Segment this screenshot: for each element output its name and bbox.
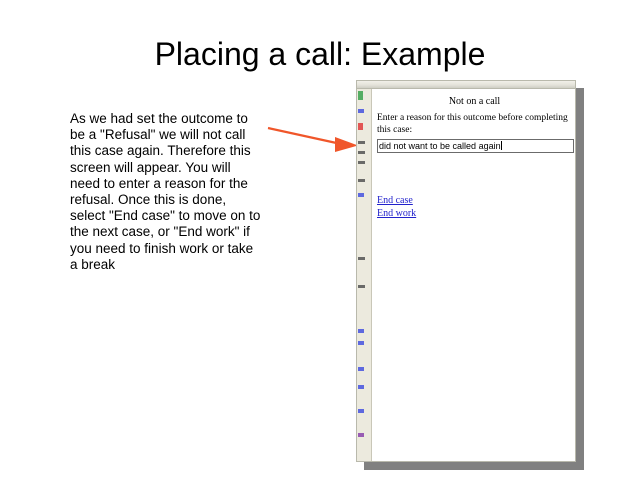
strip-fragment-blue-3 [358, 329, 364, 333]
strip-fragment-4 [358, 179, 365, 182]
strip-fragment-1 [358, 141, 365, 144]
strip-fragment-5 [358, 257, 365, 260]
end-work-link[interactable]: End work [377, 207, 497, 220]
strip-fragment-blue-7 [358, 409, 364, 413]
clipped-left-edge-strip [357, 89, 372, 462]
app-instruction-text: Enter a reason for this outcome before c… [377, 112, 574, 136]
strip-fragment-blue-2 [358, 193, 364, 197]
slide-canvas: Placing a call: Example As we had set th… [0, 0, 640, 480]
embedded-app-screenshot: Not on a call Enter a reason for this ou… [356, 80, 576, 462]
app-page-content: Not on a call Enter a reason for this ou… [373, 90, 576, 462]
strip-fragment-blue-5 [358, 367, 364, 371]
strip-fragment-blue-1 [358, 109, 364, 113]
strip-fragment-2 [358, 151, 365, 154]
reason-input-value: did not want to be called again [379, 141, 501, 151]
strip-fragment-6 [358, 285, 365, 288]
page-title: Placing a call: Example [0, 36, 640, 73]
reason-input[interactable]: did not want to be called again [377, 139, 574, 153]
end-case-link[interactable]: End case [377, 194, 497, 207]
strip-fragment-red [358, 123, 363, 130]
strip-fragment-purple [358, 433, 364, 437]
strip-fragment-3 [358, 161, 365, 164]
strip-fragment-blue-4 [358, 341, 364, 345]
app-action-links: End case End work [377, 194, 497, 220]
strip-fragment-blue-6 [358, 385, 364, 389]
red-arrow-icon [265, 118, 360, 154]
app-status-heading: Not on a call [373, 96, 576, 107]
text-caret [501, 141, 502, 150]
slide-body-text: As we had set the outcome to be a "Refus… [70, 111, 262, 273]
strip-fragment-green [358, 91, 363, 100]
app-toolbar-strip [357, 81, 576, 89]
